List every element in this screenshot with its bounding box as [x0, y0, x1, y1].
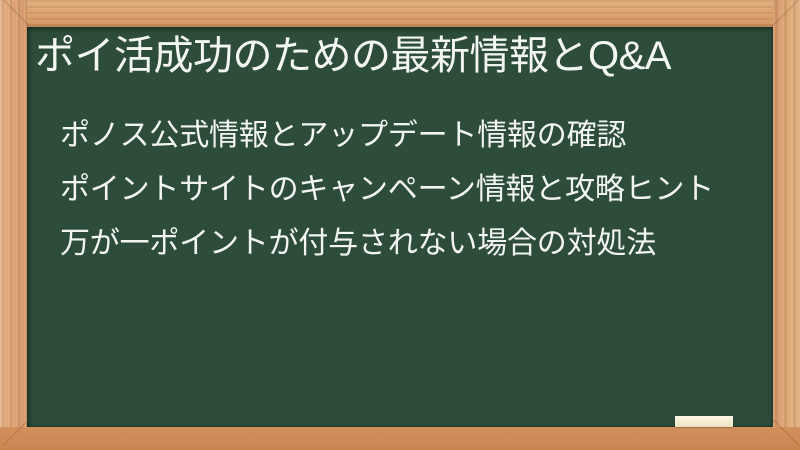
slide-title: ポイ活成功のための最新情報とQ&A — [35, 33, 671, 80]
chalk-stick-icon — [675, 416, 733, 427]
chalkboard-content: ポイ活成功のための最新情報とQ&A ポノス公式情報とアップデート情報の確認 ポイ… — [27, 27, 773, 427]
blackboard-slide: ポイ活成功のための最新情報とQ&A ポノス公式情報とアップデート情報の確認 ポイ… — [0, 0, 800, 450]
frame-rail-top — [0, 0, 800, 27]
bullet-list: ポノス公式情報とアップデート情報の確認 ポイントサイトのキャンペーン情報と攻略ヒ… — [60, 109, 760, 271]
bullet-item-2: ポイントサイトのキャンペーン情報と攻略ヒント — [60, 163, 760, 217]
bullet-item-3: 万が一ポイントが付与されない場合の対処法 — [60, 217, 760, 271]
bullet-item-1: ポノス公式情報とアップデート情報の確認 — [60, 109, 760, 163]
frame-rail-right — [773, 0, 800, 450]
frame-rail-left — [0, 0, 27, 450]
chalkboard-surface: ポイ活成功のための最新情報とQ&A ポノス公式情報とアップデート情報の確認 ポイ… — [27, 27, 773, 427]
frame-rail-bottom — [0, 427, 800, 450]
